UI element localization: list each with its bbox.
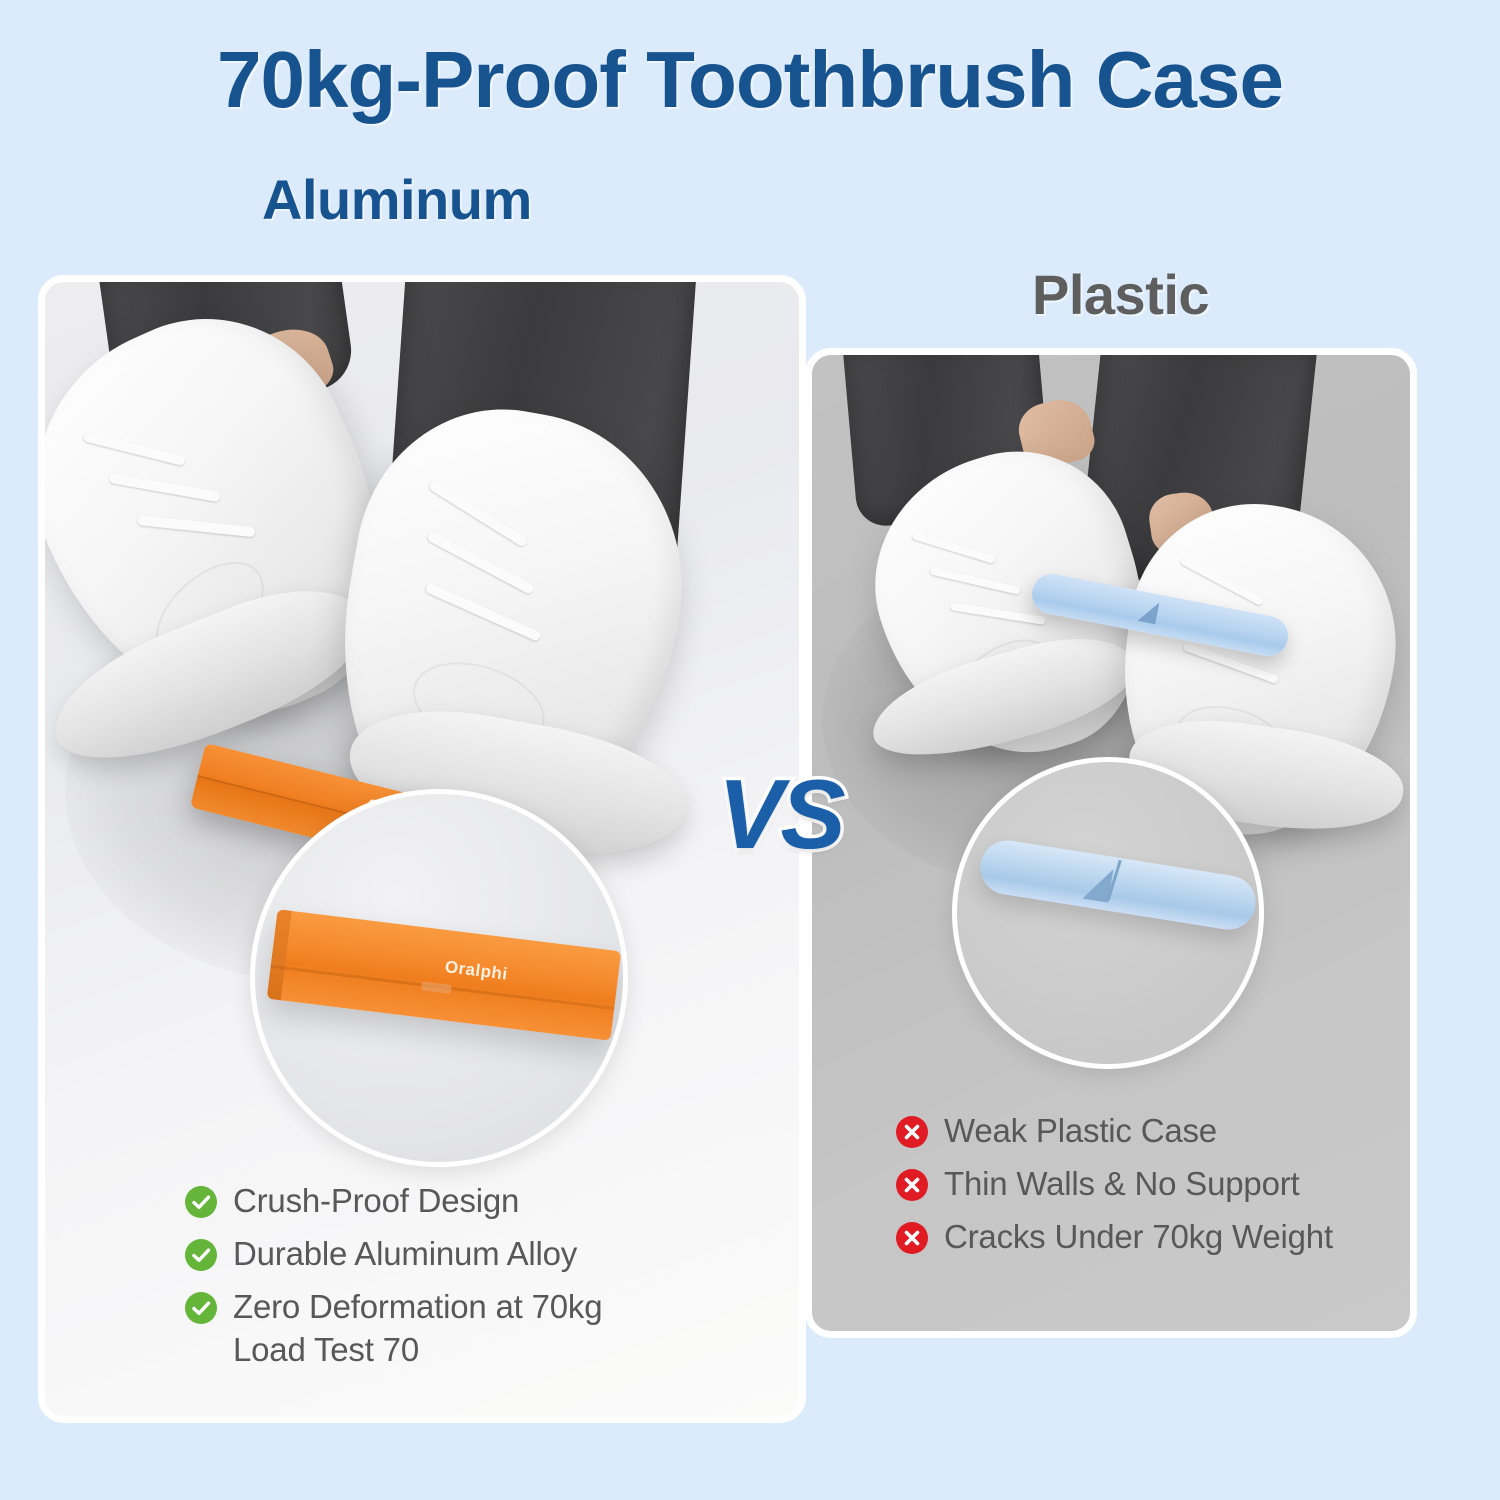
- aluminum-case-closeup: Oralphi: [267, 909, 621, 1040]
- list-item: Durable Aluminum Alloy: [185, 1233, 705, 1275]
- check-circle-icon: [185, 1186, 217, 1218]
- plastic-case-closeup: [976, 837, 1259, 934]
- plastic-case-magnifier: [952, 757, 1264, 1069]
- list-item-label: Thin Walls & No Support: [944, 1163, 1299, 1205]
- list-item: Cracks Under 70kg Weight: [896, 1216, 1416, 1258]
- crack-detail: [1138, 599, 1160, 624]
- shoelace: [930, 566, 1021, 594]
- list-item-label: Cracks Under 70kg Weight: [944, 1216, 1333, 1258]
- aluminum-section-label: Aluminum: [262, 167, 532, 232]
- cross-circle-icon: [896, 1222, 928, 1254]
- plastic-section-label: Plastic: [1032, 262, 1209, 327]
- shoelace: [911, 531, 996, 564]
- shoelace: [1180, 556, 1265, 606]
- aluminum-feature-list: Crush-Proof Design Durable Aluminum Allo…: [185, 1180, 705, 1382]
- case-latch: [421, 981, 452, 994]
- list-item: Zero Deformation at 70kg Load Test 70: [185, 1286, 705, 1370]
- cross-circle-icon: [896, 1116, 928, 1148]
- shoelace: [109, 473, 221, 502]
- shoelace: [83, 431, 186, 466]
- list-item-label: Zero Deformation at 70kg Load Test 70: [233, 1286, 673, 1370]
- list-item-label: Crush-Proof Design: [233, 1180, 519, 1222]
- list-item: Thin Walls & No Support: [896, 1163, 1416, 1205]
- list-item-label: Weak Plastic Case: [944, 1110, 1217, 1152]
- list-item: Crush-Proof Design: [185, 1180, 705, 1222]
- page-title: 70kg-Proof Toothbrush Case: [0, 34, 1500, 126]
- brand-logo-text-closeup: Oralphi: [444, 957, 509, 985]
- aluminum-case-magnifier: Oralphi: [250, 789, 628, 1167]
- shoelace: [137, 515, 255, 537]
- vs-badge: VS: [718, 758, 843, 871]
- cross-circle-icon: [896, 1169, 928, 1201]
- case-end-cap: [267, 909, 292, 1000]
- plastic-feature-list: Weak Plastic Case Thin Walls & No Suppor…: [896, 1110, 1416, 1270]
- check-circle-icon: [185, 1239, 217, 1271]
- list-item-label: Durable Aluminum Alloy: [233, 1233, 577, 1275]
- list-item: Weak Plastic Case: [896, 1110, 1416, 1152]
- check-circle-icon: [185, 1292, 217, 1324]
- shoelace: [950, 602, 1046, 625]
